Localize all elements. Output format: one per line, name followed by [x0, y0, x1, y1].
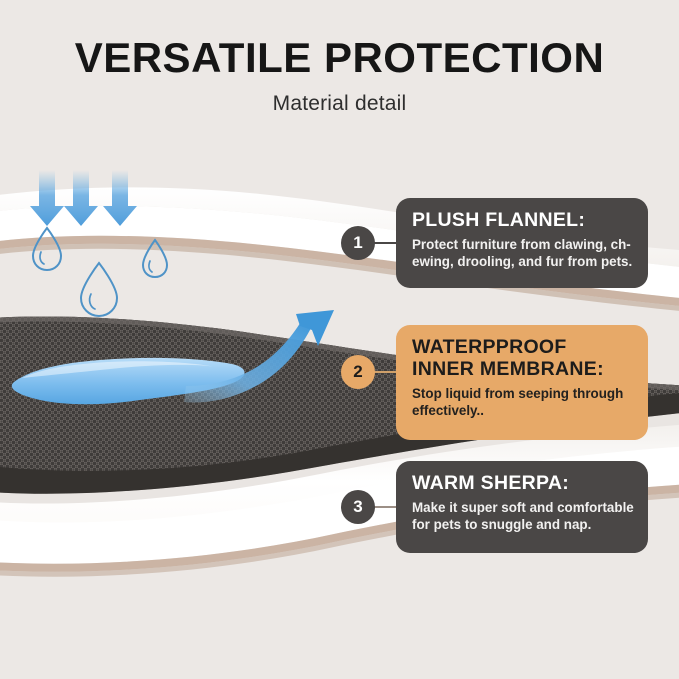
callout-box-warm-sherpa[interactable]: WARM SHERPA: Make it super soft and comf… [396, 461, 648, 553]
step-badge-3[interactable]: 3 [341, 490, 375, 524]
callout-title-3: WARM SHERPA: [412, 473, 634, 495]
callout-title-1: PLUSH FLANNEL: [412, 210, 634, 232]
callout-body-1: Protect furniture from clawing, ch-ewing… [412, 232, 634, 271]
page-subtitle: Material detail [0, 80, 679, 116]
water-down-arrows [30, 170, 137, 226]
header: VERSATILE PROTECTION Material detail [0, 0, 679, 116]
callout-box-waterproof-membrane[interactable]: WATERPPROOF INNER MEMBRANE: Stop liquid … [396, 325, 648, 440]
callout-body-3: Make it super soft and comfortable for p… [412, 495, 634, 534]
infographic-canvas: VERSATILE PROTECTION Material detail [0, 0, 679, 679]
step-badge-1[interactable]: 1 [341, 226, 375, 260]
callout-title-2: WATERPPROOF INNER MEMBRANE: [412, 337, 634, 381]
page-title: VERSATILE PROTECTION [0, 0, 679, 80]
step-badge-2[interactable]: 2 [341, 355, 375, 389]
callout-body-2: Stop liquid from seeping through effecti… [412, 381, 634, 420]
callout-box-plush-flannel[interactable]: PLUSH FLANNEL: Protect furniture from cl… [396, 198, 648, 288]
droplet-icon [81, 263, 117, 316]
